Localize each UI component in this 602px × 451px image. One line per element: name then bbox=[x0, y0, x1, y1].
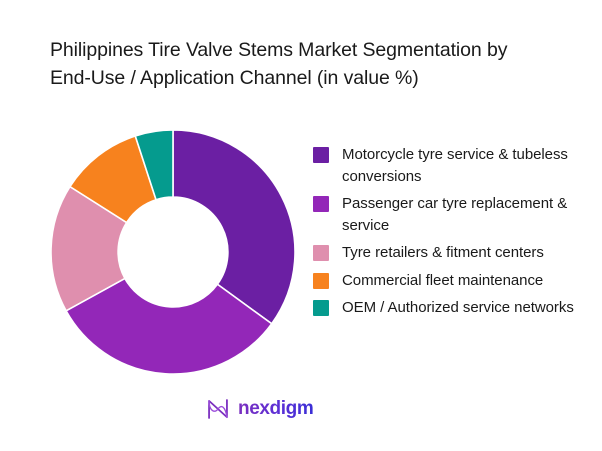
legend-item[interactable]: Passenger car tyre replacement & service bbox=[313, 193, 585, 236]
chart-title: Philippines Tire Valve Stems Market Segm… bbox=[50, 36, 580, 92]
legend-item[interactable]: OEM / Authorized service networks bbox=[313, 297, 585, 319]
legend-item-label: OEM / Authorized service networks bbox=[342, 297, 574, 319]
legend-item[interactable]: Tyre retailers & fitment centers bbox=[313, 242, 585, 264]
legend-item[interactable]: Motorcycle tyre service & tubeless conve… bbox=[313, 144, 585, 187]
nexdigm-wave-mark-icon bbox=[205, 396, 231, 422]
donut-slice-group bbox=[51, 130, 295, 374]
legend-item[interactable]: Commercial fleet maintenance bbox=[313, 270, 585, 292]
chart-legend: Motorcycle tyre service & tubeless conve… bbox=[313, 144, 585, 325]
chart-page: Philippines Tire Valve Stems Market Segm… bbox=[0, 0, 602, 451]
legend-color-swatch bbox=[313, 300, 329, 316]
legend-item-label: Motorcycle tyre service & tubeless conve… bbox=[342, 144, 585, 187]
donut-chart bbox=[49, 128, 297, 376]
legend-color-swatch bbox=[313, 196, 329, 212]
legend-item-label: Commercial fleet maintenance bbox=[342, 270, 543, 292]
donut-slice[interactable] bbox=[173, 130, 295, 324]
legend-color-swatch bbox=[313, 273, 329, 289]
legend-list: Motorcycle tyre service & tubeless conve… bbox=[313, 144, 585, 319]
legend-item-label: Passenger car tyre replacement & service bbox=[342, 193, 585, 236]
brand-name: nexdigm bbox=[238, 398, 313, 420]
donut-chart-svg bbox=[49, 128, 297, 376]
legend-item-label: Tyre retailers & fitment centers bbox=[342, 242, 544, 264]
legend-color-swatch bbox=[313, 147, 329, 163]
brand-logo: nexdigm bbox=[205, 396, 313, 422]
legend-color-swatch bbox=[313, 245, 329, 261]
